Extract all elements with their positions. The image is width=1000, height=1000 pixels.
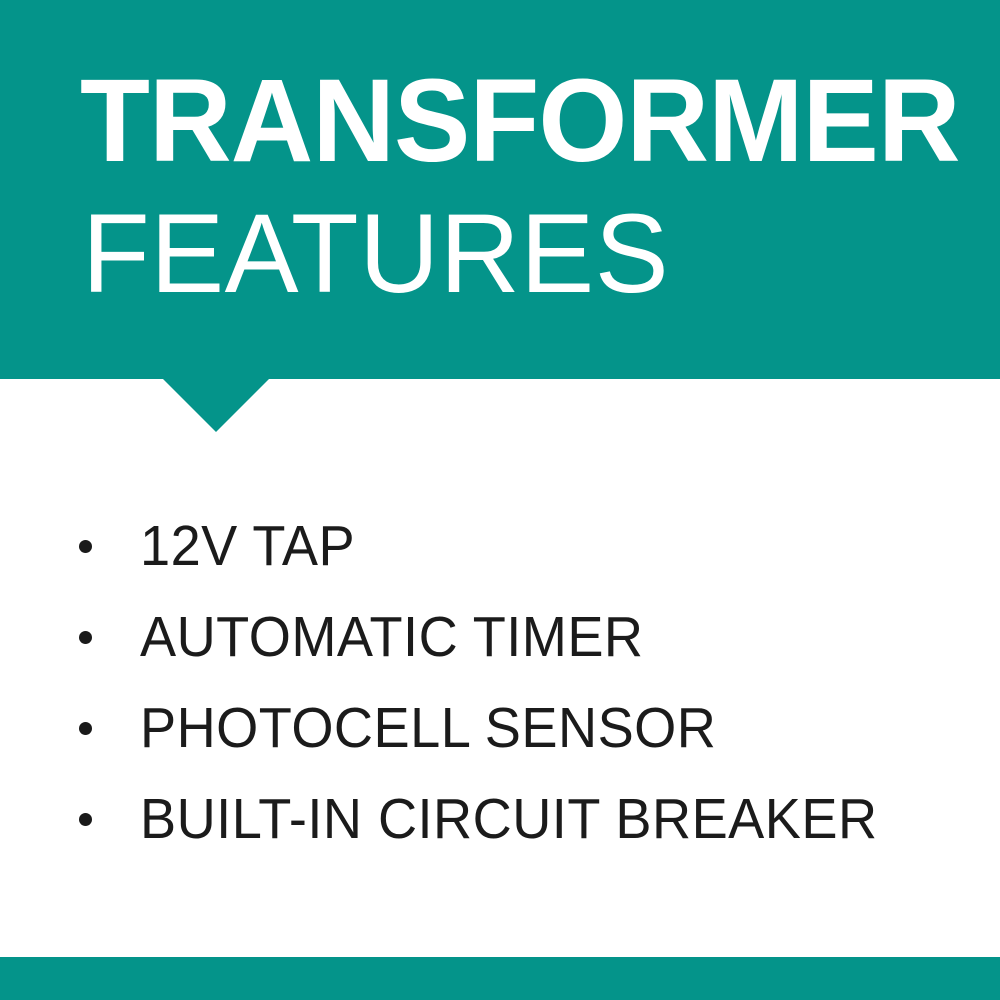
downward-triangle-pointer-icon bbox=[162, 378, 270, 432]
header-text-block: TRANSFORMER FEATURES bbox=[80, 0, 960, 379]
feature-label: AUTOMATIC TIMER bbox=[140, 606, 644, 668]
list-item: 12V TAP bbox=[0, 500, 1000, 591]
features-list: 12V TAP AUTOMATIC TIMER PHOTOCELL SENSOR… bbox=[0, 500, 1000, 864]
list-item: PHOTOCELL SENSOR bbox=[0, 682, 1000, 773]
feature-label: BUILT-IN CIRCUIT BREAKER bbox=[140, 788, 878, 850]
list-item: AUTOMATIC TIMER bbox=[0, 591, 1000, 682]
transformer-features-poster: TRANSFORMER FEATURES 12V TAP AUTOMATIC T… bbox=[0, 0, 1000, 1000]
bullet-dot-icon bbox=[79, 631, 92, 644]
header-banner: TRANSFORMER FEATURES bbox=[0, 0, 1000, 379]
page-title-secondary: FEATURES bbox=[82, 198, 669, 310]
feature-label: PHOTOCELL SENSOR bbox=[140, 697, 716, 759]
list-item: BUILT-IN CIRCUIT BREAKER bbox=[0, 773, 1000, 864]
bullet-dot-icon bbox=[79, 540, 92, 553]
bullet-dot-icon bbox=[79, 722, 92, 735]
bullet-dot-icon bbox=[79, 813, 92, 826]
feature-label: 12V TAP bbox=[140, 515, 355, 577]
footer-accent-bar bbox=[0, 957, 1000, 1000]
page-title-primary: TRANSFORMER bbox=[80, 62, 960, 180]
